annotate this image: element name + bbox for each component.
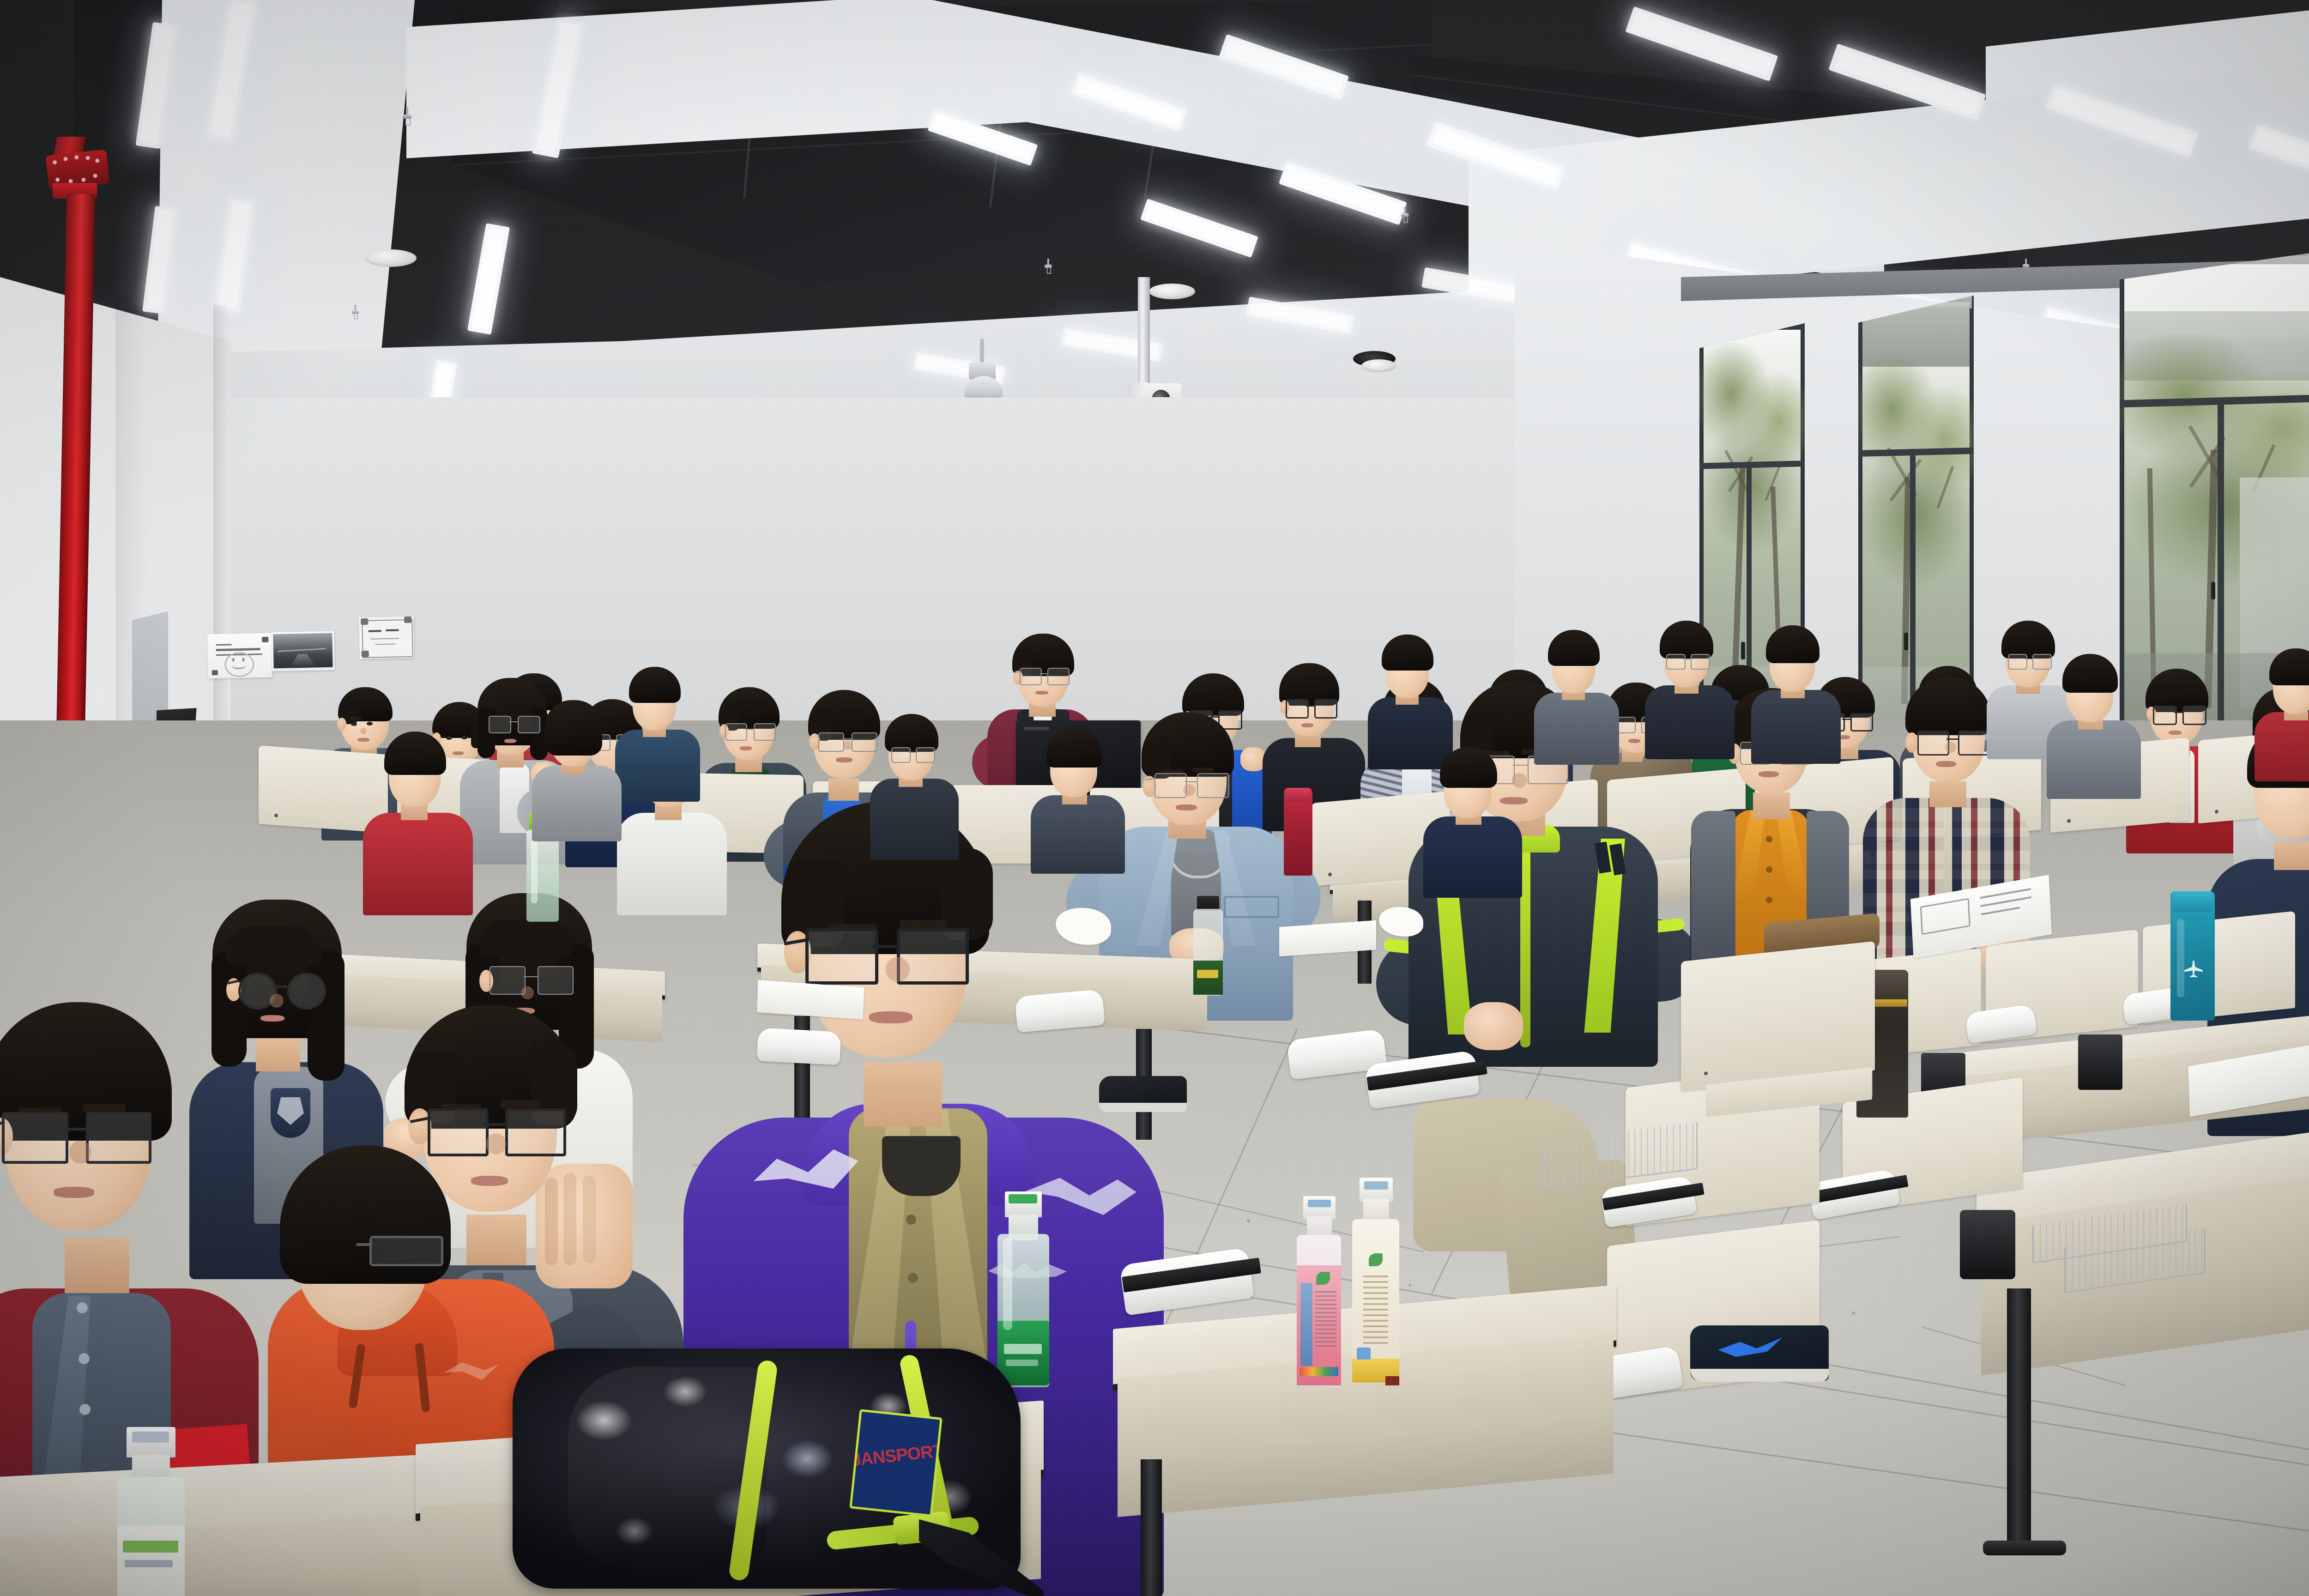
seat-pivot [2078, 1034, 2122, 1090]
eyeglasses [1020, 668, 1070, 684]
lecture-hall-photograph: CHIEFS [0, 0, 2309, 1596]
student-filler-3 [1533, 623, 1621, 762]
speaker-surround [1361, 359, 1396, 372]
backpack-logo-patch: JANSPORT [849, 1409, 943, 1517]
jansport-backpack: JANSPORT [513, 1325, 1044, 1596]
student-filler-4 [1644, 614, 1736, 757]
student-filler-5 [1750, 619, 1843, 762]
juice-bottle-yellow [1348, 1178, 1403, 1385]
airplane-icon [2184, 961, 2203, 977]
drink-bottle-dark [1191, 896, 1225, 997]
student-filler-12 [2254, 642, 2309, 780]
student-filler-11 [1422, 739, 1524, 896]
sneaker-nike [1690, 1325, 1829, 1381]
eyeglasses [2008, 654, 2051, 669]
student-filler-1 [868, 707, 961, 859]
backpack-brand-text: JANSPORT [850, 1441, 943, 1471]
eyeglasses [1666, 654, 1710, 669]
wall-notice-photo [271, 631, 335, 671]
thermos-flask-red [1284, 788, 1312, 876]
thermos-flask-teal [2170, 891, 2215, 1021]
sneaker-dark [1099, 1076, 1187, 1111]
seat-back [1681, 941, 1875, 1091]
student-filler-7 [2046, 647, 2143, 799]
wall-notice-handwritten [359, 617, 414, 659]
eyeglasses [891, 747, 935, 762]
smoke-detector-icon [365, 249, 417, 267]
camera-drop-pole [1138, 277, 1150, 387]
water-bottle-foreground-left [111, 1427, 189, 1596]
wall-notice-smiley [207, 633, 272, 679]
nike-swoosh-icon [1718, 1337, 1783, 1358]
eyeglasses [805, 928, 962, 980]
armrest [1015, 989, 1105, 1033]
juice-bottle-pink [1293, 1196, 1345, 1390]
student-filler-9 [531, 693, 623, 840]
armrest [756, 1028, 841, 1065]
camera-drop-cable [980, 339, 984, 363]
student-filler-10 [1030, 720, 1127, 873]
student-filler-8 [614, 660, 702, 799]
seat-pivot [1960, 1210, 2015, 1279]
